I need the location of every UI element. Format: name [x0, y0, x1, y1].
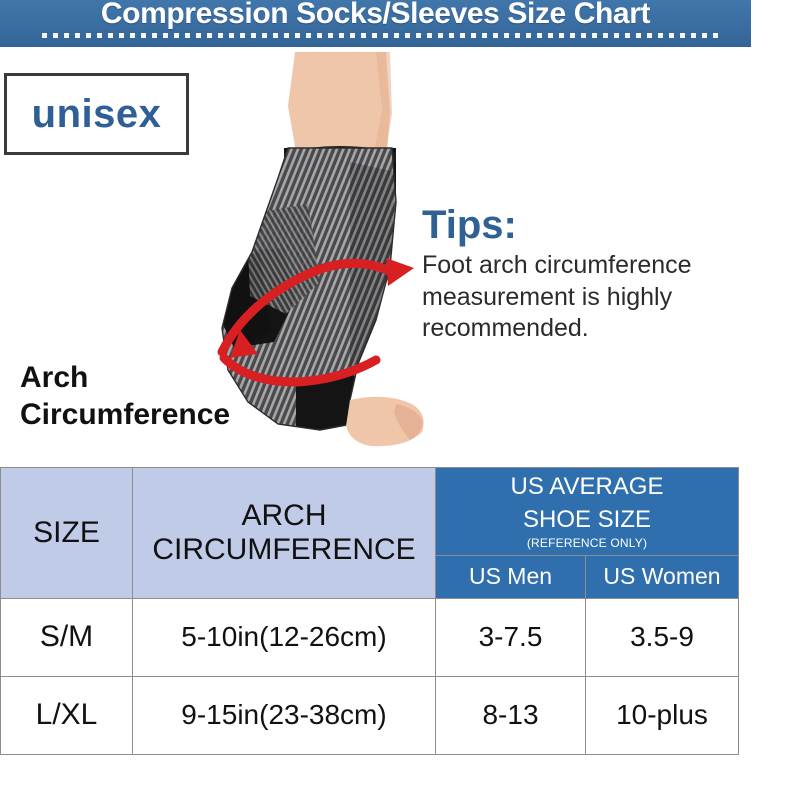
header-cell-size: SIZE [1, 468, 133, 599]
header-arch-line2: CIRCUMFERENCE [133, 533, 435, 567]
dotted-rule [42, 33, 721, 38]
header-shoe-line2: SHOE SIZE [436, 501, 738, 534]
tips-heading: Tips: [422, 204, 782, 246]
arch-label-line2: Circumference [20, 397, 300, 434]
header-cell-arch: ARCH CIRCUMFERENCE [133, 468, 436, 599]
tips-block: Tips: Foot arch circumference measuremen… [422, 204, 782, 345]
size-chart-table: SIZE ARCH CIRCUMFERENCE US AVERAGE SHOE … [0, 467, 739, 755]
header-shoe-line1: US AVERAGE [436, 468, 738, 501]
cell-size: L/XL [1, 676, 133, 754]
table-row: L/XL 9-15in(23-38cm) 8-13 10-plus [1, 676, 739, 754]
arch-label-line1: Arch [20, 360, 300, 397]
header-arch-line1: ARCH [133, 499, 435, 533]
cell-us-men: 3-7.5 [436, 598, 586, 676]
arch-circumference-label: Arch Circumference [20, 360, 300, 433]
cell-us-women: 10-plus [586, 676, 739, 754]
cell-arch: 5-10in(12-26cm) [133, 598, 436, 676]
cell-us-men: 8-13 [436, 676, 586, 754]
unisex-badge: unisex [4, 73, 189, 155]
cell-us-women: 3.5-9 [586, 598, 739, 676]
tips-body: Foot arch circumference measurement is h… [422, 250, 782, 345]
size-chart-page: Compression Socks/Sleeves Size Chart uni… [0, 0, 808, 808]
unisex-badge-label: unisex [32, 92, 162, 137]
cell-arch: 9-15in(23-38cm) [133, 676, 436, 754]
table-header-row-main: SIZE ARCH CIRCUMFERENCE US AVERAGE SHOE … [1, 468, 739, 556]
header-cell-shoe-size: US AVERAGE SHOE SIZE (REFERENCE ONLY) [436, 468, 739, 556]
header-cell-us-women: US Women [586, 555, 739, 598]
header-banner: Compression Socks/Sleeves Size Chart [0, 0, 751, 47]
cell-size: S/M [1, 598, 133, 676]
page-title: Compression Socks/Sleeves Size Chart [0, 0, 751, 31]
header-cell-us-men: US Men [436, 555, 586, 598]
header-shoe-note: (REFERENCE ONLY) [436, 534, 738, 555]
table-row: S/M 5-10in(12-26cm) 3-7.5 3.5-9 [1, 598, 739, 676]
